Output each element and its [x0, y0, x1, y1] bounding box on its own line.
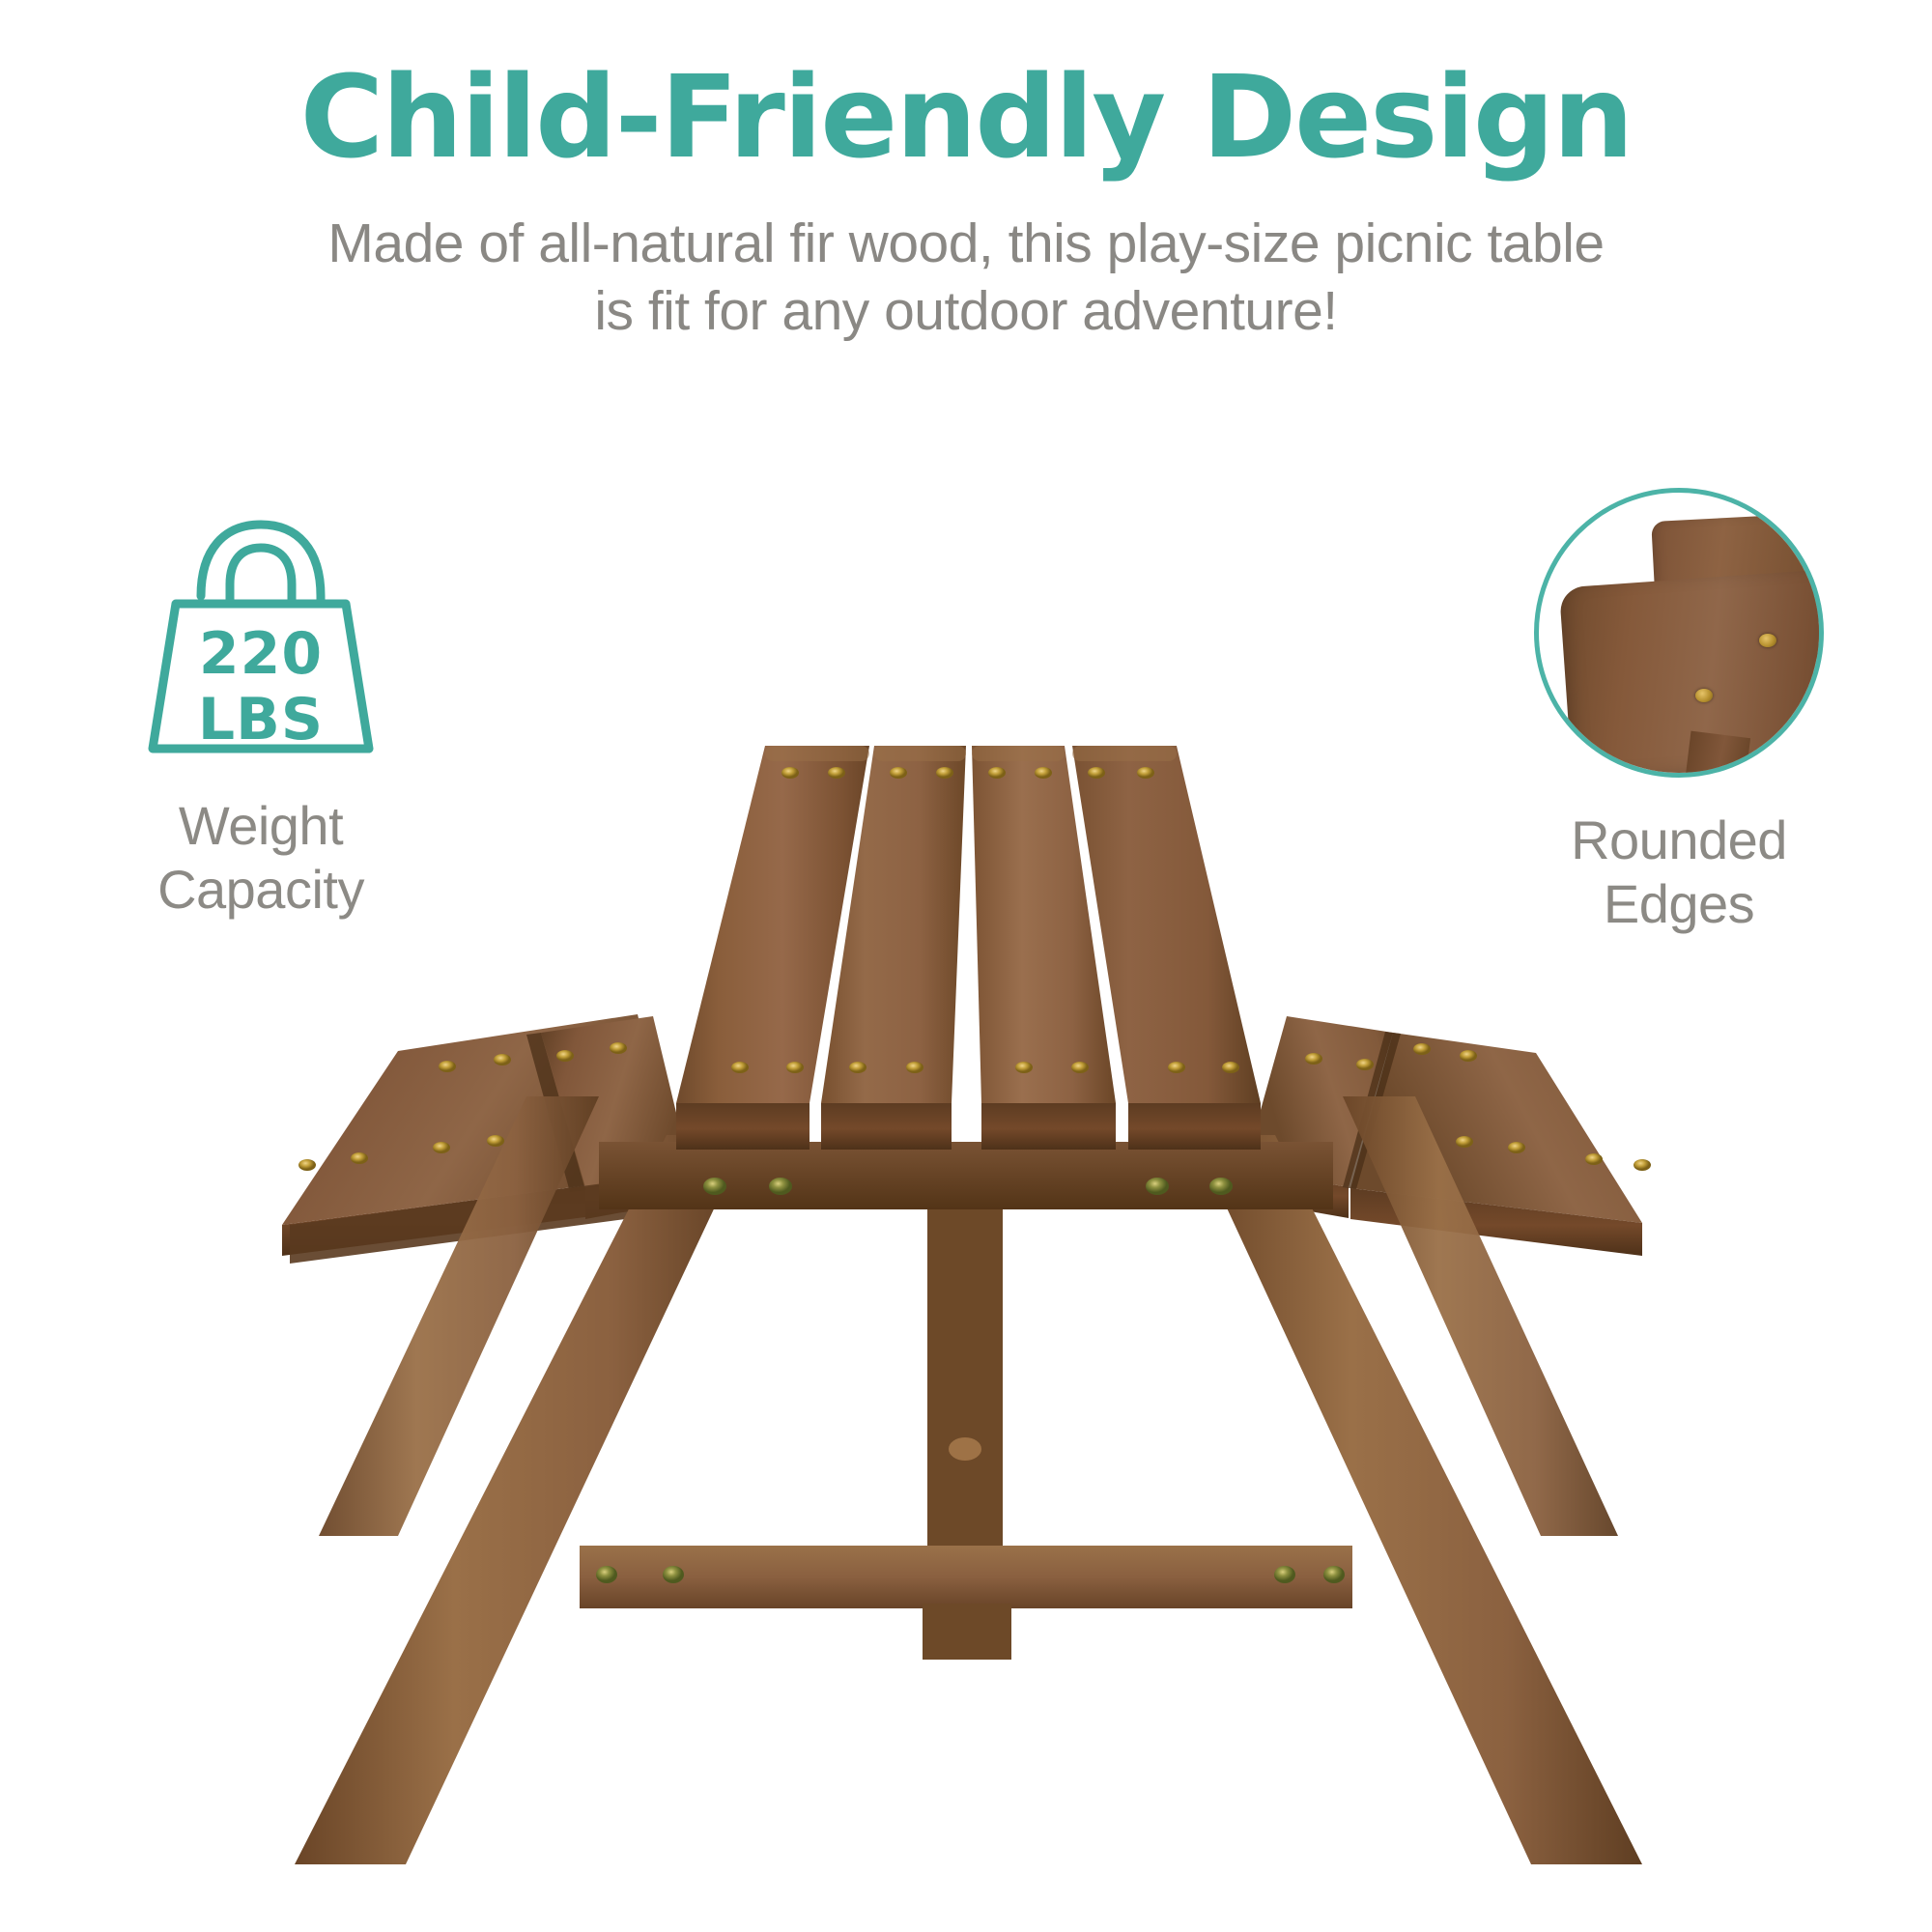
weight-capacity-value: 220: [92, 620, 430, 688]
rounded-edges-caption: Rounded Edges: [1486, 809, 1872, 936]
circle-detail-zoom-icon: [1534, 488, 1824, 778]
weight-caption-line-2: Capacity: [92, 858, 430, 922]
table-legs: [295, 1096, 1642, 1864]
picnic-table-illustration: [0, 0, 1932, 1932]
detail-screw-lower: [1695, 689, 1713, 702]
edges-caption-line-2: Edges: [1486, 872, 1872, 936]
tabletop-slats: [676, 746, 1261, 1150]
product-photo-picnic-table: [0, 0, 1932, 1932]
table-apron: [599, 1142, 1333, 1209]
edges-caption-line-1: Rounded: [1486, 809, 1872, 872]
feature-weight-capacity: 220 LBS Weight Capacity: [92, 507, 430, 922]
weight-capacity-caption: Weight Capacity: [92, 794, 430, 922]
detail-screw-upper: [1759, 634, 1776, 647]
shopping-bag-icon: 220 LBS: [92, 507, 430, 763]
weight-capacity-unit: LBS: [92, 686, 430, 753]
feature-rounded-edges: Rounded Edges: [1486, 488, 1872, 936]
weight-caption-line-1: Weight: [92, 794, 430, 858]
